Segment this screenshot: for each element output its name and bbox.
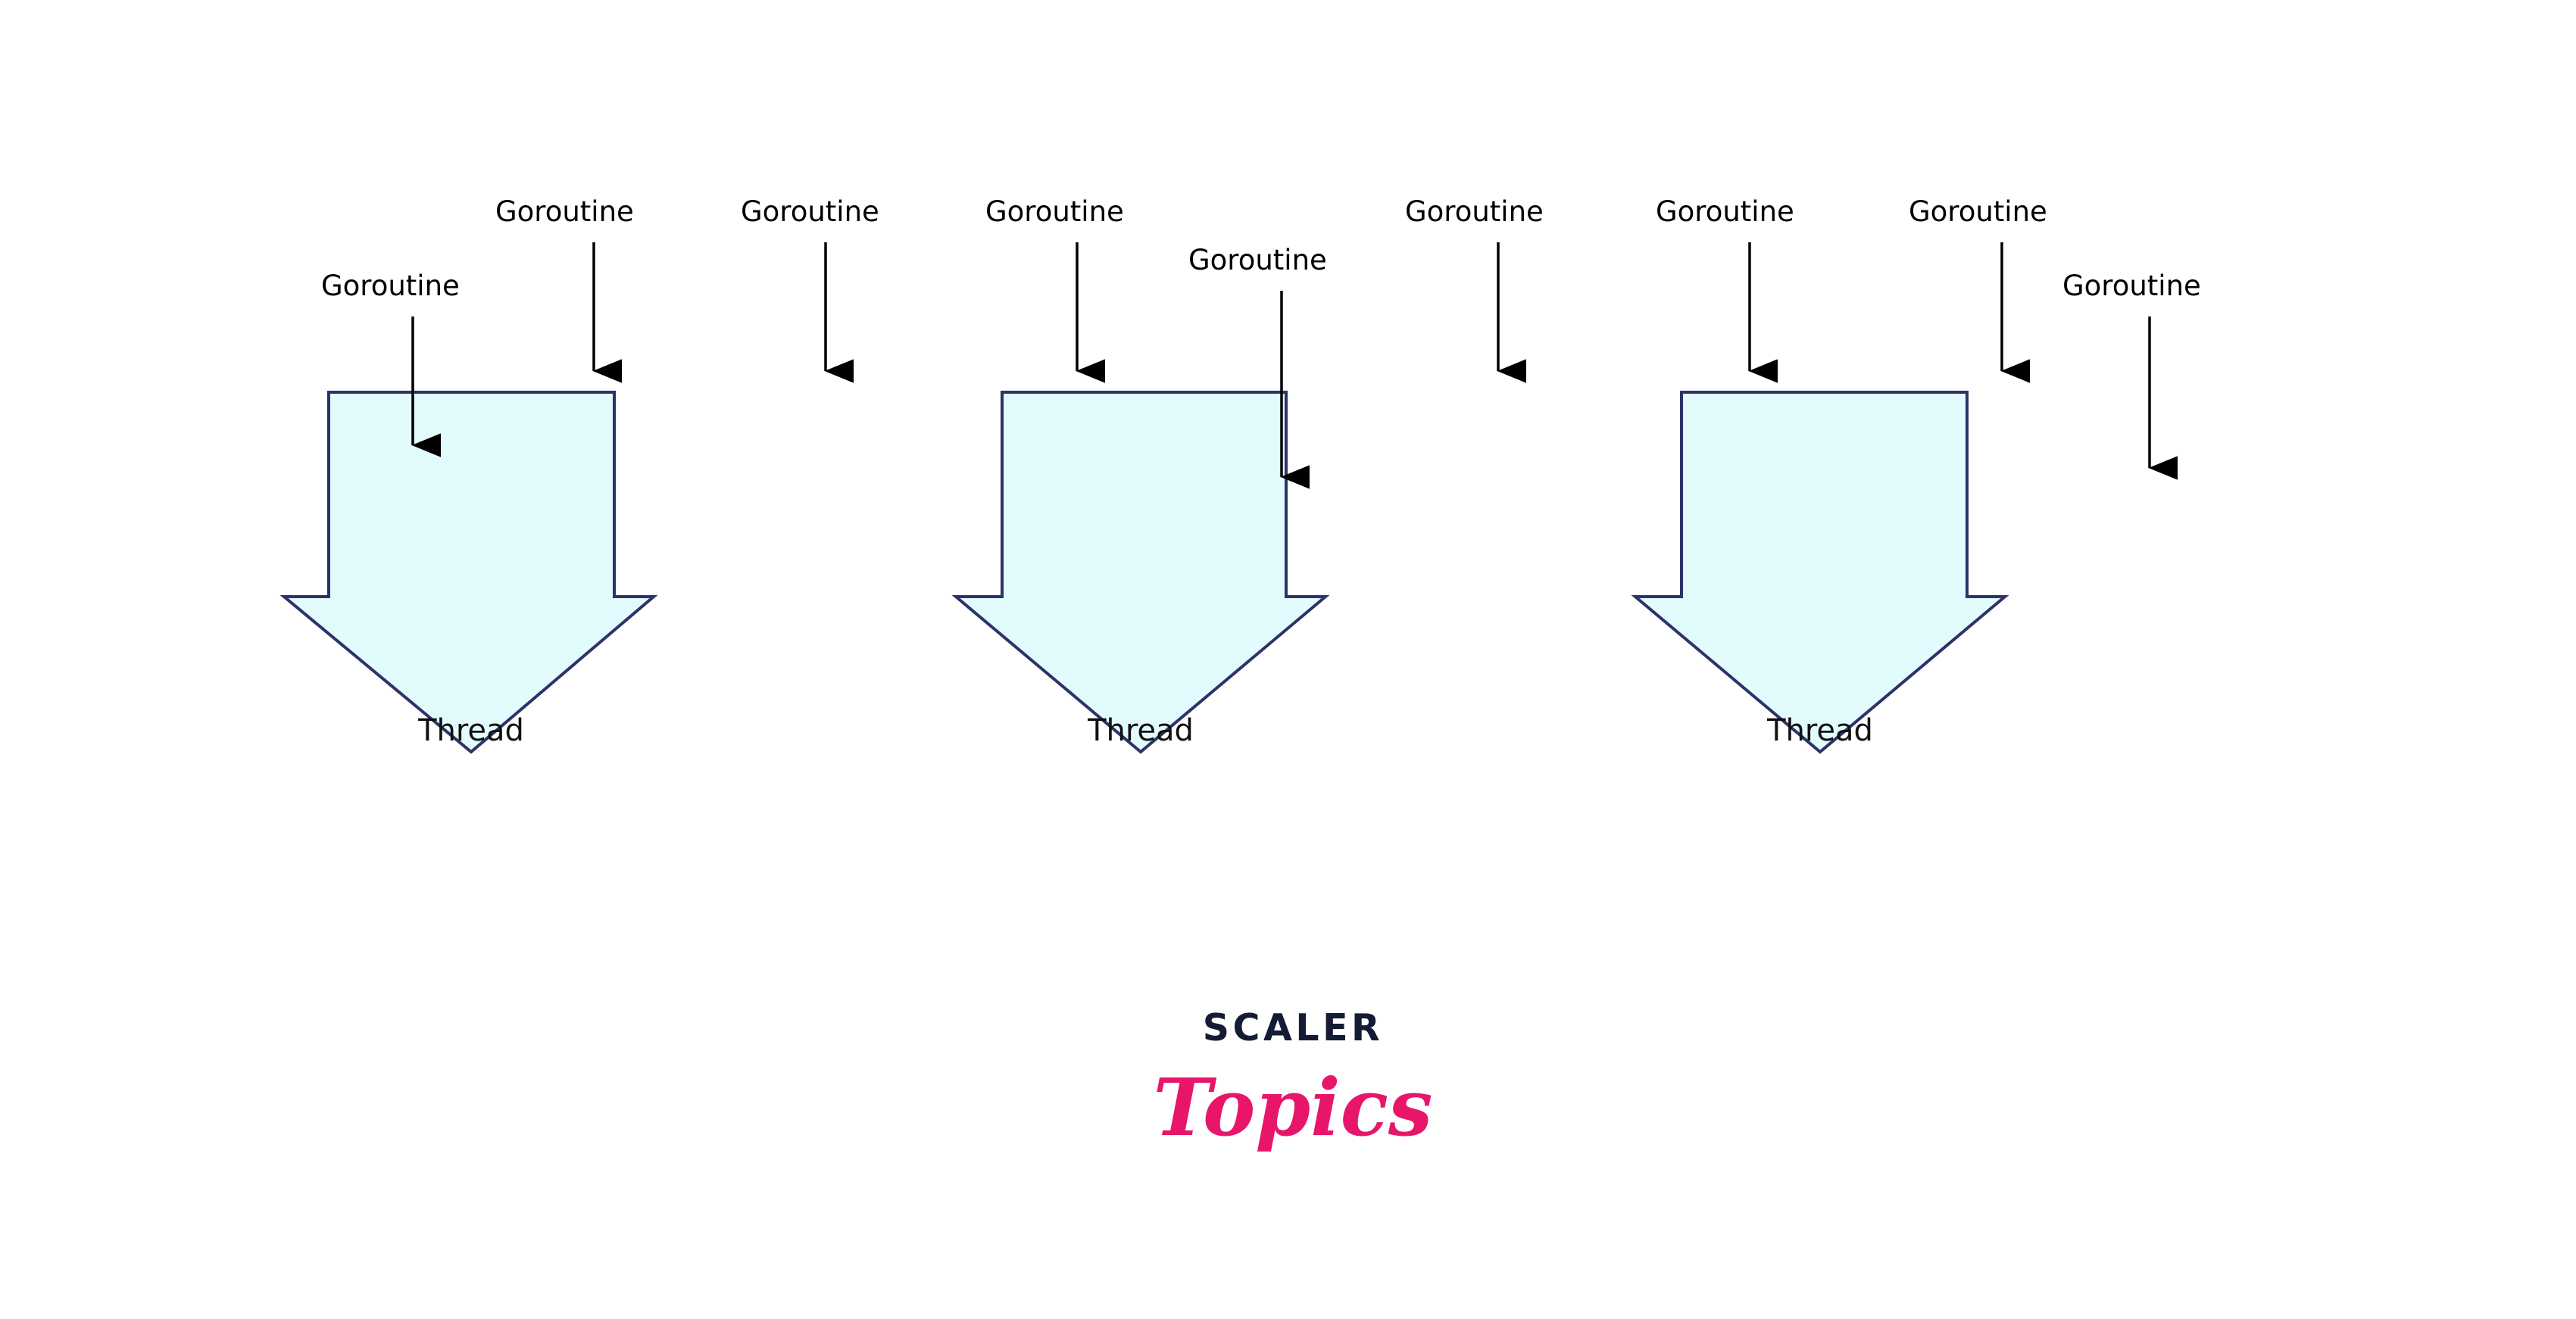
- goroutine-3-3: Goroutine: [2062, 270, 2201, 468]
- goroutine-3-1: Goroutine: [1656, 195, 1794, 371]
- goroutine-label: Goroutine: [741, 195, 879, 228]
- logo-topics-text: Topics: [1154, 1061, 1433, 1154]
- thread-label: Thread: [1766, 713, 1873, 748]
- goroutine-label: Goroutine: [495, 195, 634, 228]
- goroutine-label: Goroutine: [321, 270, 460, 302]
- thread-arrow-shape: [956, 392, 1325, 752]
- goroutine-label: Goroutine: [1188, 244, 1327, 276]
- thread-arrow-shape: [284, 392, 654, 752]
- thread-label: Thread: [1087, 713, 1194, 748]
- logo-scaler-text: SCALER: [1203, 1006, 1384, 1049]
- goroutine-label: Goroutine: [1405, 195, 1544, 228]
- goroutine-label: Goroutine: [2062, 270, 2201, 302]
- goroutine-label: Goroutine: [985, 195, 1124, 228]
- threads-layer: ThreadThreadThread: [284, 392, 2005, 752]
- goroutine-label: Goroutine: [1656, 195, 1794, 228]
- scaler-topics-logo: SCALER Topics: [1154, 1006, 1433, 1154]
- goroutine-2-3: Goroutine: [1405, 195, 1544, 371]
- goroutine-1-2: Goroutine: [495, 195, 634, 371]
- thread-arrow-shape: [1635, 392, 2005, 752]
- goroutine-2-1: Goroutine: [985, 195, 1124, 371]
- thread-arrow-2: Thread: [956, 392, 1325, 752]
- goroutine-1-3: Goroutine: [741, 195, 879, 371]
- thread-label: Thread: [417, 713, 524, 748]
- thread-arrow-3: Thread: [1635, 392, 2005, 752]
- goroutine-3-2: Goroutine: [1909, 195, 2047, 371]
- diagram-canvas: ThreadThreadThread GoroutineGoroutineGor…: [0, 0, 2576, 1319]
- goroutine-thread-diagram: ThreadThreadThread GoroutineGoroutineGor…: [0, 0, 2576, 1319]
- goroutine-label: Goroutine: [1909, 195, 2047, 228]
- thread-arrow-1: Thread: [284, 392, 654, 752]
